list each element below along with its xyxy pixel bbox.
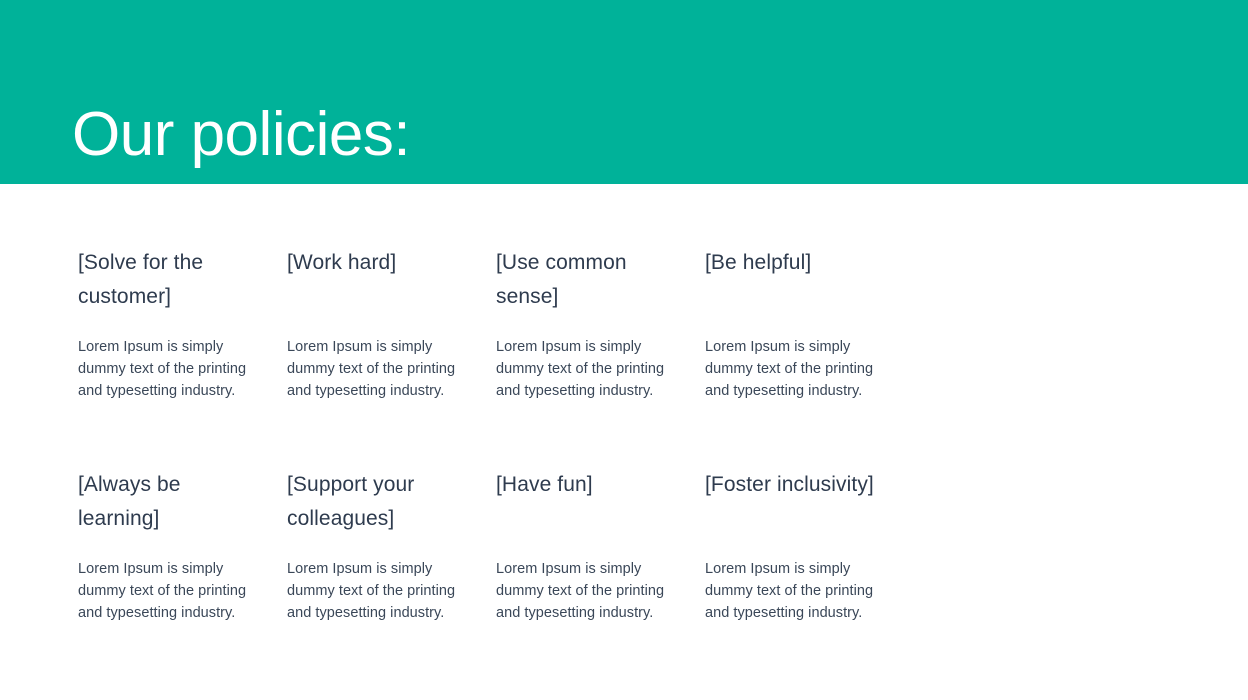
policy-card: [Have fun] Lorem Ipsum is simply dummy t… <box>496 468 671 502</box>
policy-body: Lorem Ipsum is simply dummy text of the … <box>705 336 880 402</box>
policy-card: [Use common sense] Lorem Ipsum is simply… <box>496 246 671 314</box>
policy-card: [Always be learning] Lorem Ipsum is simp… <box>78 468 253 536</box>
slide: Our policies: [Solve for the customer] L… <box>0 0 1248 700</box>
policy-body: Lorem Ipsum is simply dummy text of the … <box>287 336 462 402</box>
policy-body: Lorem Ipsum is simply dummy text of the … <box>78 336 253 402</box>
policy-card: [Foster inclusivity] Lorem Ipsum is simp… <box>705 468 880 502</box>
policy-body: Lorem Ipsum is simply dummy text of the … <box>496 558 671 624</box>
policy-card: [Support your colleagues] Lorem Ipsum is… <box>287 468 462 536</box>
policy-body: Lorem Ipsum is simply dummy text of the … <box>496 336 671 402</box>
header-banner: Our policies: <box>0 0 1248 184</box>
policy-body: Lorem Ipsum is simply dummy text of the … <box>287 558 462 624</box>
policy-heading: [Work hard] <box>287 246 462 280</box>
policy-heading: [Use common sense] <box>496 246 671 314</box>
policy-card: [Work hard] Lorem Ipsum is simply dummy … <box>287 246 462 280</box>
policy-heading: [Solve for the customer] <box>78 246 253 314</box>
page-title: Our policies: <box>72 99 410 171</box>
policy-grid: [Solve for the customer] Lorem Ipsum is … <box>78 184 1170 700</box>
policy-body: Lorem Ipsum is simply dummy text of the … <box>705 558 880 624</box>
policy-card: [Solve for the customer] Lorem Ipsum is … <box>78 246 253 314</box>
policy-card: [Be helpful] Lorem Ipsum is simply dummy… <box>705 246 880 280</box>
policy-heading: [Be helpful] <box>705 246 880 280</box>
policy-heading: [Have fun] <box>496 468 671 502</box>
policy-heading: [Always be learning] <box>78 468 253 536</box>
policy-heading: [Foster inclusivity] <box>705 468 880 502</box>
policy-heading: [Support your colleagues] <box>287 468 462 536</box>
policy-body: Lorem Ipsum is simply dummy text of the … <box>78 558 253 624</box>
